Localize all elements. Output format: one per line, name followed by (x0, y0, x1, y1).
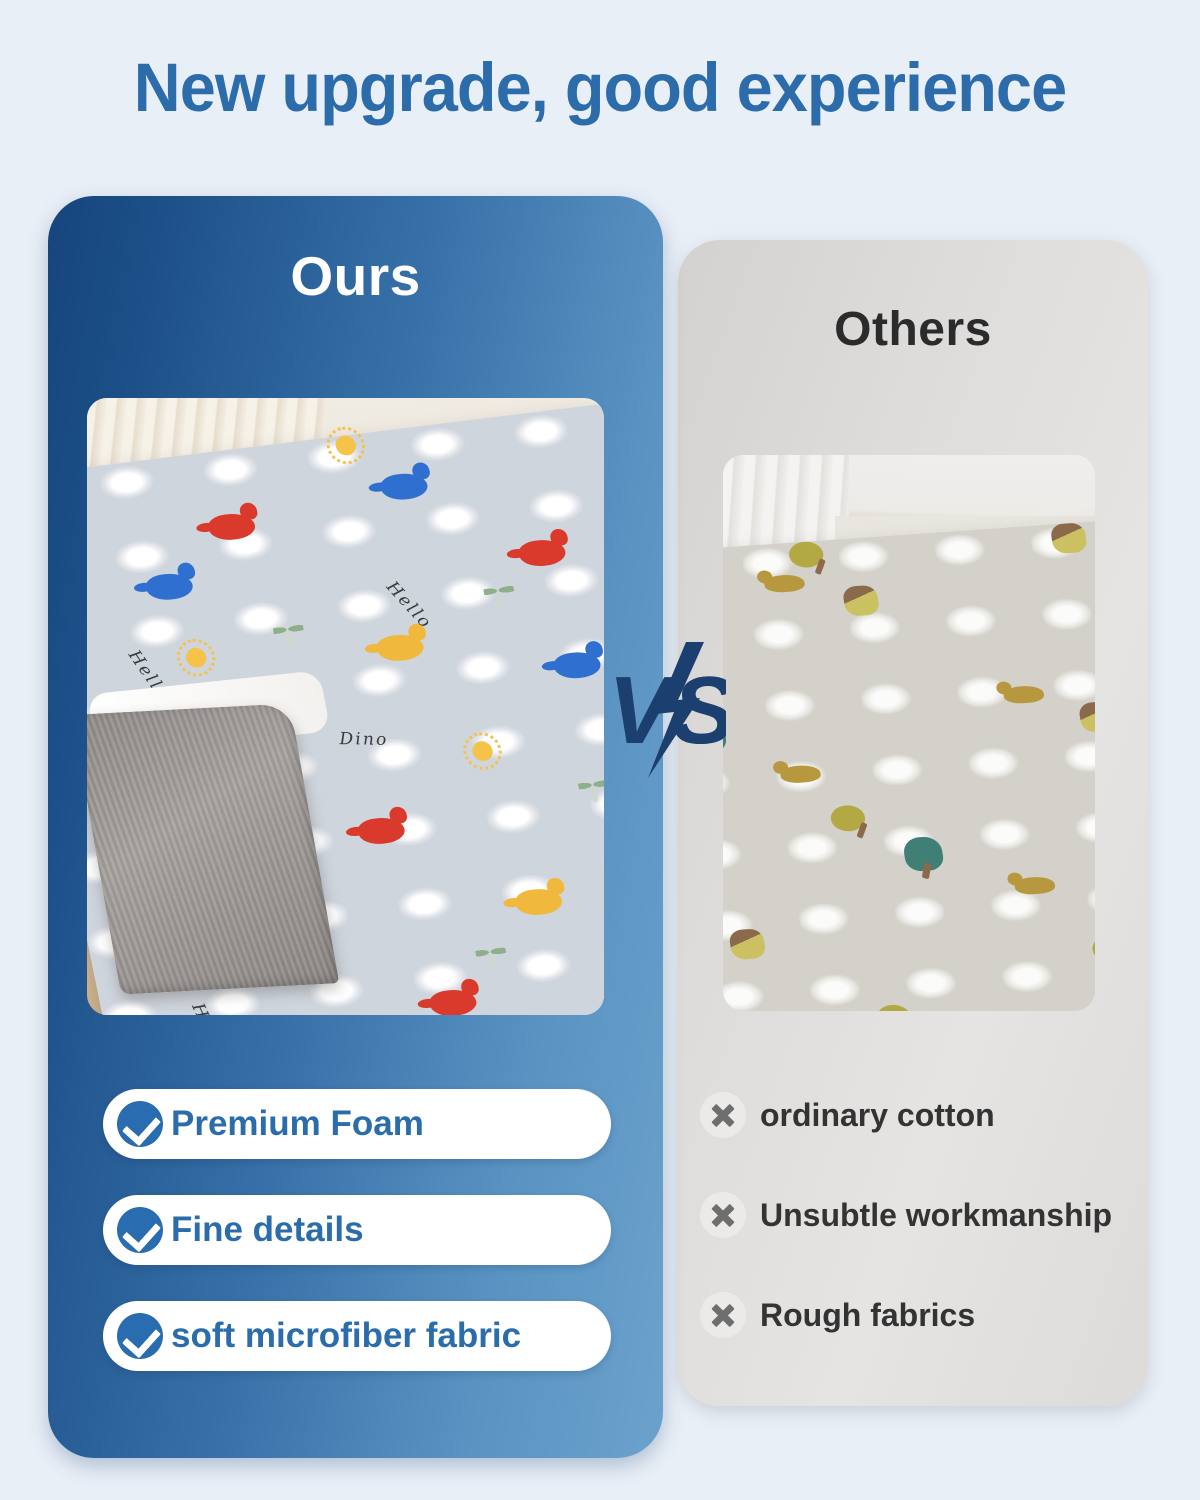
dino-script-text: Dino (339, 730, 389, 750)
ours-feature-pill: Premium Foam (103, 1089, 611, 1159)
others-product-photo (723, 455, 1095, 1011)
check-icon (117, 1313, 163, 1359)
check-icon (117, 1101, 163, 1147)
ours-panel-title: Ours (48, 244, 663, 308)
others-feature-label: ordinary cotton (760, 1097, 995, 1134)
others-feature-row: ordinary cotton (700, 1092, 995, 1138)
ours-panel: Ours Hello (48, 196, 663, 1458)
palm-motif-icon (475, 944, 510, 973)
others-panel: Others ordinary cotton (678, 240, 1148, 1406)
palm-motif-icon (578, 777, 604, 806)
palm-motif-icon (482, 583, 517, 612)
sun-motif-icon (470, 740, 494, 762)
others-feature-label: Rough fabrics (760, 1297, 975, 1334)
others-panel-title: Others (678, 302, 1148, 357)
x-icon (700, 1192, 746, 1238)
others-feature-row: Unsubtle workmanship (700, 1192, 1112, 1238)
ours-product-photo: Hello Hello Dino Dino Hello (87, 398, 604, 1015)
ours-feature-label: Premium Foam (171, 1104, 424, 1144)
versus-badge: VS (604, 640, 726, 780)
ours-feature-label: Fine details (171, 1210, 364, 1250)
x-icon (700, 1092, 746, 1138)
ours-feature-pill: Fine details (103, 1195, 611, 1265)
check-icon (117, 1207, 163, 1253)
sun-motif-icon (184, 646, 208, 668)
others-mat (723, 519, 1095, 1011)
x-icon (700, 1292, 746, 1338)
others-feature-row: Rough fabrics (700, 1292, 975, 1338)
ours-feature-pill: soft microfiber fabric (103, 1301, 611, 1371)
palm-motif-icon (272, 621, 307, 650)
page-title: New upgrade, good experience (36, 48, 1164, 127)
ours-feature-label: soft microfiber fabric (171, 1316, 521, 1356)
others-feature-label: Unsubtle workmanship (760, 1197, 1112, 1234)
